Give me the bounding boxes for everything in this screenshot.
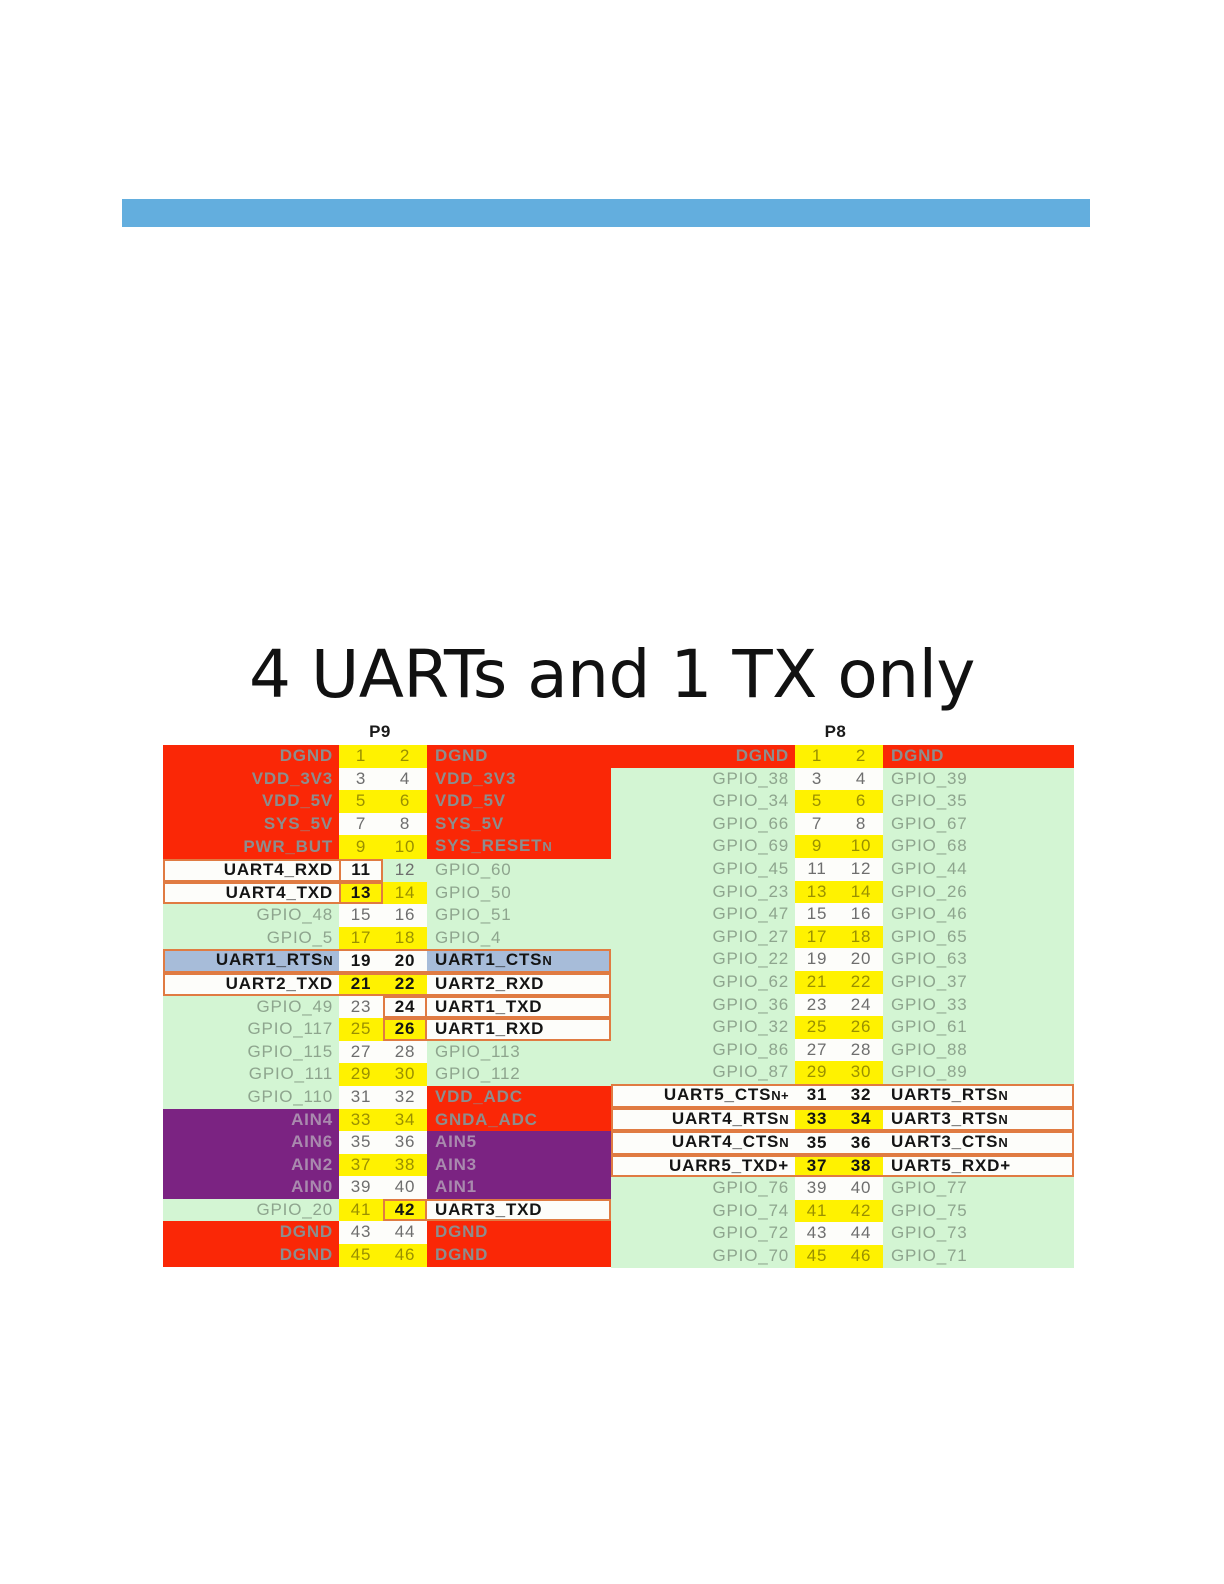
pin-signal-right: UART3_RTSN — [883, 1108, 1074, 1132]
pin-signal-left: GPIO_23 — [611, 881, 795, 904]
table-row: DGND12DGND — [611, 745, 1074, 768]
pin-number-even: 46 — [839, 1245, 883, 1268]
pin-number-odd: 5 — [339, 790, 383, 813]
table-row: PWR_BUT910SYS_RESETN — [163, 835, 611, 859]
pin-number-even: 44 — [383, 1221, 427, 1244]
pin-number-even: 20 — [383, 949, 427, 973]
pin-signal-right: GNDA_ADC — [427, 1109, 611, 1132]
pin-signal-left: GPIO_86 — [611, 1039, 795, 1062]
pin-number-even: 8 — [383, 813, 427, 836]
pin-signal-left: PWR_BUT — [163, 835, 339, 859]
pin-signal-right: SYS_5V — [427, 813, 611, 836]
pin-signal-left: GPIO_48 — [163, 904, 339, 927]
pin-number-even: 42 — [383, 1199, 427, 1222]
pin-signal-right: GPIO_60 — [427, 859, 611, 882]
pin-signal-right: GPIO_37 — [883, 971, 1074, 994]
pin-signal-left: AIN2 — [163, 1154, 339, 1177]
pin-number-even: 32 — [383, 1086, 427, 1109]
pin-number-odd: 35 — [339, 1131, 383, 1154]
pin-number-even: 26 — [839, 1016, 883, 1039]
pin-number-even: 12 — [839, 858, 883, 881]
pin-signal-right: UART3_TXD — [427, 1199, 611, 1222]
pin-number-even: 6 — [839, 790, 883, 813]
pin-number-odd: 5 — [795, 790, 839, 813]
pin-signal-right: GPIO_61 — [883, 1016, 1074, 1039]
pin-number-odd: 43 — [339, 1221, 383, 1244]
pin-signal-right: GPIO_33 — [883, 994, 1074, 1017]
pin-number-odd: 41 — [339, 1199, 383, 1222]
table-row: AIN03940AIN1 — [163, 1176, 611, 1199]
pin-signal-left: UART4_CTSN — [611, 1131, 795, 1155]
table-row: AIN23738AIN3 — [163, 1154, 611, 1177]
pin-signal-left: GPIO_45 — [611, 858, 795, 881]
pin-signal-right: VDD_5V — [427, 790, 611, 813]
pin-signal-left: GPIO_22 — [611, 948, 795, 971]
pin-signal-right: GPIO_50 — [427, 882, 611, 905]
pin-signal-left: AIN6 — [163, 1131, 339, 1154]
pin-number-even: 36 — [839, 1131, 883, 1155]
pin-number-odd: 29 — [795, 1061, 839, 1084]
pin-signal-left: UART4_RTSN — [611, 1108, 795, 1132]
table-row: GPIO_204142UART3_TXD — [163, 1199, 611, 1222]
pin-signal-right: GPIO_73 — [883, 1222, 1074, 1245]
pin-signal-right: GPIO_39 — [883, 768, 1074, 791]
pin-number-even: 18 — [383, 927, 427, 950]
pin-signal-left: UART4_RXD — [163, 859, 339, 882]
table-row: UART1_RTSN1920UART1_CTSN — [163, 949, 611, 973]
pin-number-odd: 3 — [339, 768, 383, 791]
table-row: GPIO_69910GPIO_68 — [611, 835, 1074, 858]
pin-signal-right: GPIO_65 — [883, 926, 1074, 949]
pin-signal-left: GPIO_38 — [611, 768, 795, 791]
pin-signal-left: GPIO_117 — [163, 1018, 339, 1041]
table-row: GPIO_51718GPIO_4 — [163, 927, 611, 950]
pin-number-even: 20 — [839, 948, 883, 971]
table-row: AIN43334GNDA_ADC — [163, 1109, 611, 1132]
table-row: DGND4344DGND — [163, 1221, 611, 1244]
pin-number-even: 30 — [383, 1063, 427, 1086]
pin-signal-right: AIN5 — [427, 1131, 611, 1154]
pin-signal-left: DGND — [163, 745, 339, 768]
table-row: GPIO_231314GPIO_26 — [611, 881, 1074, 904]
pin-number-odd: 9 — [795, 835, 839, 858]
pin-number-odd: 37 — [339, 1154, 383, 1177]
pin-number-even: 18 — [839, 926, 883, 949]
pin-signal-left: GPIO_110 — [163, 1086, 339, 1109]
table-row: GPIO_724344GPIO_73 — [611, 1222, 1074, 1245]
pin-number-even: 6 — [383, 790, 427, 813]
table-row: GPIO_451112GPIO_44 — [611, 858, 1074, 881]
table-row: GPIO_362324GPIO_33 — [611, 994, 1074, 1017]
pin-signal-left: DGND — [611, 745, 795, 768]
pin-signal-right: GPIO_46 — [883, 903, 1074, 926]
pin-signal-left: AIN0 — [163, 1176, 339, 1199]
table-row: GPIO_271718GPIO_65 — [611, 926, 1074, 949]
pin-signal-left: GPIO_32 — [611, 1016, 795, 1039]
pin-number-odd: 9 — [339, 835, 383, 859]
pin-number-even: 16 — [383, 904, 427, 927]
pin-number-even: 14 — [839, 881, 883, 904]
pin-number-odd: 23 — [339, 996, 383, 1019]
table-row: GPIO_744142GPIO_75 — [611, 1200, 1074, 1223]
pin-number-even: 34 — [383, 1109, 427, 1132]
pin-number-odd: 33 — [795, 1108, 839, 1132]
pin-signal-left: GPIO_62 — [611, 971, 795, 994]
pin-signal-right: UART1_TXD — [427, 996, 611, 1019]
pin-signal-left: AIN4 — [163, 1109, 339, 1132]
pin-signal-right: GPIO_77 — [883, 1177, 1074, 1200]
pin-number-odd: 41 — [795, 1200, 839, 1223]
pin-number-odd: 17 — [795, 926, 839, 949]
pin-number-even: 24 — [839, 994, 883, 1017]
pin-number-odd: 1 — [339, 745, 383, 768]
pin-number-odd: 7 — [339, 813, 383, 836]
page-title: 4 UARTs and 1 TX only — [0, 636, 1224, 713]
pin-number-even: 16 — [839, 903, 883, 926]
p8-pinout-table: DGND12DGNDGPIO_3834GPIO_39GPIO_3456GPIO_… — [611, 745, 1074, 1268]
pin-number-odd: 31 — [795, 1084, 839, 1108]
pin-signal-left: GPIO_74 — [611, 1200, 795, 1223]
pin-signal-left: UARR5_TXD+ — [611, 1155, 795, 1178]
pin-number-odd: 21 — [795, 971, 839, 994]
pin-signal-left: GPIO_5 — [163, 927, 339, 950]
table-row: GPIO_322526GPIO_61 — [611, 1016, 1074, 1039]
pin-number-even: 12 — [383, 859, 427, 882]
table-row: AIN63536AIN5 — [163, 1131, 611, 1154]
table-row: UART4_RTSN3334UART3_RTSN — [611, 1108, 1074, 1132]
pin-number-even: 44 — [839, 1222, 883, 1245]
pin-signal-left: DGND — [163, 1244, 339, 1267]
table-row: GPIO_1152728GPIO_113 — [163, 1041, 611, 1064]
pin-signal-left: GPIO_66 — [611, 813, 795, 836]
pin-signal-right: DGND — [427, 1244, 611, 1267]
table-row: GPIO_492324UART1_TXD — [163, 996, 611, 1019]
pin-number-even: 28 — [383, 1041, 427, 1064]
table-row: GPIO_622122GPIO_37 — [611, 971, 1074, 994]
pin-number-odd: 29 — [339, 1063, 383, 1086]
pin-signal-left: UART4_TXD — [163, 882, 339, 905]
pin-number-even: 10 — [839, 835, 883, 858]
pin-number-odd: 45 — [795, 1245, 839, 1268]
table-row: UART4_CTSN3536UART3_CTSN — [611, 1131, 1074, 1155]
pin-number-odd: 33 — [339, 1109, 383, 1132]
pin-number-odd: 11 — [795, 858, 839, 881]
p8-header-table: P8 DGND12DGNDGPIO_3834GPIO_39GPIO_3456GP… — [611, 722, 1074, 1268]
pin-number-odd: 7 — [795, 813, 839, 836]
pin-signal-right: GPIO_63 — [883, 948, 1074, 971]
table-row: GPIO_1103132VDD_ADC — [163, 1086, 611, 1109]
pin-signal-left: GPIO_34 — [611, 790, 795, 813]
table-row: GPIO_3834GPIO_39 — [611, 768, 1074, 791]
p9-pinout-table: DGND12DGNDVDD_3V334VDD_3V3VDD_5V56VDD_5V… — [163, 745, 611, 1267]
pin-number-even: 10 — [383, 835, 427, 859]
pin-signal-right: GPIO_4 — [427, 927, 611, 950]
table-row: DGND4546DGND — [163, 1244, 611, 1267]
pin-number-odd: 27 — [795, 1039, 839, 1062]
pin-number-even: 40 — [383, 1176, 427, 1199]
table-row: GPIO_6678GPIO_67 — [611, 813, 1074, 836]
pin-signal-left: GPIO_72 — [611, 1222, 795, 1245]
pin-signal-left: GPIO_76 — [611, 1177, 795, 1200]
pin-signal-right: GPIO_51 — [427, 904, 611, 927]
table-row: GPIO_1172526UART1_RXD — [163, 1018, 611, 1041]
pin-number-even: 28 — [839, 1039, 883, 1062]
pin-signal-right: UART1_RXD — [427, 1018, 611, 1041]
pin-signal-left: VDD_5V — [163, 790, 339, 813]
pin-signal-right: GPIO_67 — [883, 813, 1074, 836]
pin-signal-left: UART5_CTSN+ — [611, 1084, 795, 1108]
pin-number-odd: 21 — [339, 973, 383, 996]
pin-number-odd: 45 — [339, 1244, 383, 1267]
table-row: VDD_3V334VDD_3V3 — [163, 768, 611, 791]
pin-number-even: 14 — [383, 882, 427, 905]
pin-signal-right: GPIO_112 — [427, 1063, 611, 1086]
table-row: DGND12DGND — [163, 745, 611, 768]
table-row: SYS_5V78SYS_5V — [163, 813, 611, 836]
pin-number-even: 8 — [839, 813, 883, 836]
pin-number-even: 2 — [383, 745, 427, 768]
p8-label: P8 — [611, 722, 1060, 742]
pin-signal-left: GPIO_70 — [611, 1245, 795, 1268]
pin-number-even: 38 — [839, 1155, 883, 1178]
table-row: GPIO_221920GPIO_63 — [611, 948, 1074, 971]
table-row: GPIO_1112930GPIO_112 — [163, 1063, 611, 1086]
pin-number-odd: 15 — [795, 903, 839, 926]
table-row: GPIO_872930GPIO_89 — [611, 1061, 1074, 1084]
pin-signal-right: GPIO_113 — [427, 1041, 611, 1064]
pin-number-even: 26 — [383, 1018, 427, 1041]
pin-number-odd: 3 — [795, 768, 839, 791]
pin-number-odd: 11 — [339, 859, 383, 882]
pin-signal-left: GPIO_20 — [163, 1199, 339, 1222]
pin-signal-right: VDD_ADC — [427, 1086, 611, 1109]
table-row: GPIO_704546GPIO_71 — [611, 1245, 1074, 1268]
pin-number-odd: 15 — [339, 904, 383, 927]
table-row: GPIO_471516GPIO_46 — [611, 903, 1074, 926]
pin-number-even: 2 — [839, 745, 883, 768]
pin-signal-right: GPIO_35 — [883, 790, 1074, 813]
table-row: VDD_5V56VDD_5V — [163, 790, 611, 813]
pin-number-odd: 25 — [339, 1018, 383, 1041]
pin-signal-right: AIN3 — [427, 1154, 611, 1177]
pin-number-odd: 39 — [795, 1177, 839, 1200]
pin-signal-left: UART1_RTSN — [163, 949, 339, 973]
pin-number-even: 46 — [383, 1244, 427, 1267]
pin-signal-right: DGND — [883, 745, 1074, 768]
pin-number-odd: 43 — [795, 1222, 839, 1245]
pin-signal-right: DGND — [427, 1221, 611, 1244]
pin-number-even: 34 — [839, 1108, 883, 1132]
pin-number-even: 30 — [839, 1061, 883, 1084]
table-row: GPIO_481516GPIO_51 — [163, 904, 611, 927]
pin-signal-right: UART1_CTSN — [427, 949, 611, 973]
pin-signal-right: GPIO_75 — [883, 1200, 1074, 1223]
pin-signal-left: SYS_5V — [163, 813, 339, 836]
pin-signal-left: GPIO_36 — [611, 994, 795, 1017]
accent-bar — [122, 199, 1090, 227]
pin-number-odd: 13 — [339, 882, 383, 905]
pin-number-even: 24 — [383, 996, 427, 1019]
pin-number-even: 22 — [383, 973, 427, 996]
table-row: GPIO_3456GPIO_35 — [611, 790, 1074, 813]
pin-number-even: 40 — [839, 1177, 883, 1200]
p9-label: P9 — [163, 722, 597, 742]
pin-signal-left: GPIO_47 — [611, 903, 795, 926]
pin-number-odd: 35 — [795, 1131, 839, 1155]
pin-number-odd: 1 — [795, 745, 839, 768]
pin-number-odd: 19 — [339, 949, 383, 973]
pin-signal-left: VDD_3V3 — [163, 768, 339, 791]
pin-number-even: 38 — [383, 1154, 427, 1177]
pin-number-even: 36 — [383, 1131, 427, 1154]
pin-number-odd: 37 — [795, 1155, 839, 1178]
pin-number-odd: 19 — [795, 948, 839, 971]
pin-signal-right: GPIO_44 — [883, 858, 1074, 881]
pin-signal-right: UART5_RXD+ — [883, 1155, 1074, 1178]
pin-signal-left: GPIO_111 — [163, 1063, 339, 1086]
pin-number-odd: 27 — [339, 1041, 383, 1064]
pin-signal-right: AIN1 — [427, 1176, 611, 1199]
pin-number-odd: 31 — [339, 1086, 383, 1109]
pin-number-even: 32 — [839, 1084, 883, 1108]
pin-signal-left: GPIO_49 — [163, 996, 339, 1019]
pin-signal-left: GPIO_87 — [611, 1061, 795, 1084]
pin-signal-right: DGND — [427, 745, 611, 768]
pin-signal-left: GPIO_115 — [163, 1041, 339, 1064]
pin-signal-right: UART2_RXD — [427, 973, 611, 996]
pin-signal-right: GPIO_71 — [883, 1245, 1074, 1268]
pin-number-odd: 39 — [339, 1176, 383, 1199]
table-row: UARR5_TXD+3738UART5_RXD+ — [611, 1155, 1074, 1178]
pin-number-odd: 17 — [339, 927, 383, 950]
pin-number-even: 4 — [839, 768, 883, 791]
table-row: UART5_CTSN+3132UART5_RTSN — [611, 1084, 1074, 1108]
pin-signal-left: DGND — [163, 1221, 339, 1244]
pin-signal-right: GPIO_26 — [883, 881, 1074, 904]
pin-number-odd: 25 — [795, 1016, 839, 1039]
pin-number-even: 4 — [383, 768, 427, 791]
pin-signal-left: UART2_TXD — [163, 973, 339, 996]
pin-number-even: 22 — [839, 971, 883, 994]
pin-signal-right: VDD_3V3 — [427, 768, 611, 791]
pin-signal-right: SYS_RESETN — [427, 835, 611, 859]
p9-header-table: P9 DGND12DGNDVDD_3V334VDD_3V3VDD_5V56VDD… — [163, 722, 611, 1267]
pin-signal-left: GPIO_69 — [611, 835, 795, 858]
pin-number-odd: 13 — [795, 881, 839, 904]
pin-number-even: 42 — [839, 1200, 883, 1223]
pin-signal-right: GPIO_68 — [883, 835, 1074, 858]
pin-signal-right: GPIO_89 — [883, 1061, 1074, 1084]
pin-number-odd: 23 — [795, 994, 839, 1017]
table-row: GPIO_862728GPIO_88 — [611, 1039, 1074, 1062]
pin-signal-right: UART5_RTSN — [883, 1084, 1074, 1108]
table-row: UART4_TXD1314GPIO_50 — [163, 882, 611, 905]
table-row: UART2_TXD2122UART2_RXD — [163, 973, 611, 996]
pin-signal-left: GPIO_27 — [611, 926, 795, 949]
pin-signal-right: GPIO_88 — [883, 1039, 1074, 1062]
table-row: GPIO_763940GPIO_77 — [611, 1177, 1074, 1200]
table-row: UART4_RXD1112GPIO_60 — [163, 859, 611, 882]
pin-signal-right: UART3_CTSN — [883, 1131, 1074, 1155]
